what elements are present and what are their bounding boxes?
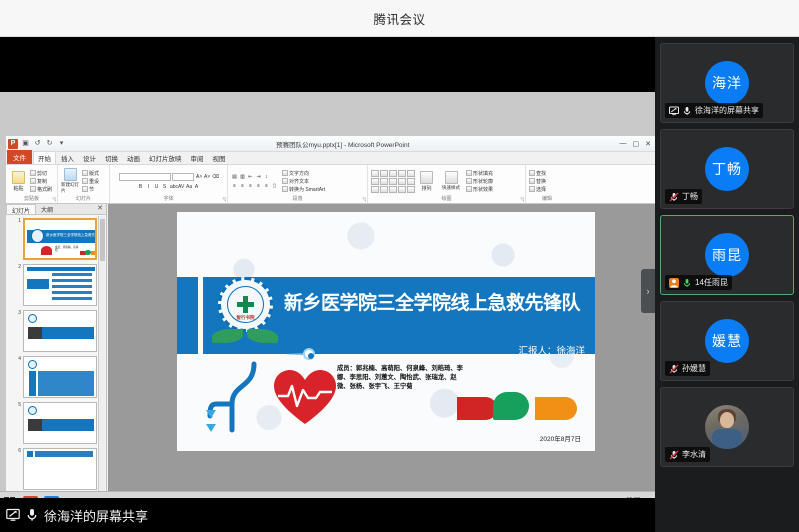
close-icon[interactable]: ✕ — [97, 204, 106, 214]
section-icon — [82, 186, 88, 192]
tab-design[interactable]: 设计 — [79, 152, 100, 164]
minimize-button[interactable]: — — [620, 140, 627, 148]
slide-presenter[interactable]: 汇报人：徐海洋 — [518, 343, 585, 357]
avatar: 丁畅 — [705, 147, 749, 191]
shape-icon[interactable] — [380, 178, 388, 185]
slide-canvas-area[interactable]: 智行书院 新乡医学院三全学院线上急救先锋队 汇报人：徐海洋 — [108, 204, 655, 498]
pill-orange — [535, 397, 577, 420]
copy-button[interactable]: 复制 — [30, 178, 52, 185]
participant-name: 丁畅 — [682, 191, 698, 202]
screen-share-icon — [6, 508, 20, 522]
shrink-font-icon[interactable]: A˅ — [203, 173, 210, 180]
participant-tile-yuanhui[interactable]: 媛慧 孙媛慧 — [660, 301, 794, 381]
drawing-dialog-launcher[interactable]: ◹ — [520, 197, 524, 203]
avatar: 雨昆 — [705, 233, 749, 277]
shape-icon[interactable] — [398, 178, 406, 185]
grow-font-icon[interactable]: A˄ — [195, 173, 202, 180]
thumbnail-slide-6[interactable] — [23, 448, 97, 490]
ribbon-home: 粘贴 剪切 复制 — [6, 165, 655, 204]
shape-icon[interactable] — [371, 186, 379, 193]
share-status-banner: 徐海洋的屏幕共享 — [0, 498, 655, 532]
window-buttons[interactable]: — ▢ ✕ — [620, 140, 656, 148]
tab-insert[interactable]: 插入 — [57, 152, 78, 164]
powerpoint-document-title: 预赛团队公myu.pptx[1] - Microsoft PowerPoint — [66, 139, 620, 149]
group-paragraph: ▤ ▥ ⇤ ⇥ ↕ ≡ ≡ ≡ ≡ — [228, 165, 368, 203]
screen-share-icon — [669, 106, 679, 116]
text-direction-icon — [282, 170, 288, 176]
select-button[interactable]: 选择 — [529, 186, 546, 193]
shape-icon[interactable] — [407, 178, 415, 185]
microphone-icon — [682, 106, 692, 116]
paragraph-dialog-launcher[interactable]: ◹ — [362, 197, 366, 203]
new-slide-icon — [64, 168, 77, 181]
shape-icon[interactable] — [371, 178, 379, 185]
participant-name: 14任雨昆 — [695, 277, 728, 288]
align-center-icon[interactable]: ≡ — [239, 182, 246, 189]
avatar — [705, 405, 749, 449]
line-spacing-icon[interactable]: ↕ — [263, 173, 270, 180]
tab-review[interactable]: 审阅 — [187, 152, 208, 164]
font-color-icon[interactable]: A — [193, 183, 200, 190]
participant-namebar: 徐海洋的屏幕共享 — [665, 103, 763, 118]
maximize-button[interactable]: ▢ — [633, 140, 640, 148]
group-clipboard: 粘贴 剪切 复制 — [6, 165, 58, 203]
medical-cross-icon — [237, 296, 254, 313]
shape-icon[interactable] — [407, 186, 415, 193]
shapes-gallery[interactable] — [371, 170, 415, 193]
clipboard-dialog-launcher[interactable]: ◹ — [52, 197, 56, 203]
tab-slideshow[interactable]: 幻灯片放映 — [145, 152, 186, 164]
replace-icon — [529, 178, 535, 184]
collapse-rail-button[interactable]: › — [641, 269, 655, 313]
replace-button[interactable]: 替换 — [529, 178, 546, 185]
participant-name: 徐海洋的屏幕共享 — [695, 105, 759, 116]
tab-home[interactable]: 开始 — [33, 151, 56, 164]
close-button[interactable]: ✕ — [645, 140, 651, 148]
copy-icon — [30, 178, 36, 184]
shape-icon[interactable] — [371, 170, 379, 177]
align-left-icon[interactable]: ≡ — [231, 182, 238, 189]
shape-icon[interactable] — [389, 178, 397, 185]
microphone-muted-icon — [669, 192, 679, 202]
convert-smartart-button[interactable]: 转换为 SmartArt — [282, 186, 325, 193]
align-text-icon — [282, 178, 288, 184]
smartart-icon — [282, 186, 288, 192]
slide-title[interactable]: 新乡医学院三全学院线上急救先锋队 — [284, 288, 584, 318]
shadow-icon[interactable]: S — [161, 183, 168, 190]
slide-members-text[interactable]: 成员：郭兆楠、高萌阳、何泉峰、刘皓琦、李娜、李思阳、刘蕙文、陶怡武、张瑞龙、赵微… — [337, 364, 465, 391]
powerpoint-titlebar: P ▣ ↺ ↻ ▾ 预赛团队公myu.pptx[1] - Microsoft P… — [6, 136, 655, 152]
participant-tile-haiyang[interactable]: 海洋 徐海洋的屏幕共享 — [660, 43, 794, 123]
select-icon — [529, 186, 535, 192]
italic-icon[interactable]: I — [145, 183, 152, 190]
thumbnail-slide-4[interactable] — [23, 356, 97, 398]
paste-button[interactable]: 粘贴 — [9, 171, 28, 192]
customize-icon[interactable]: ▾ — [57, 139, 66, 148]
participant-namebar: 李水清 — [665, 447, 710, 462]
shape-effects-button[interactable]: 形状效果 — [466, 186, 493, 193]
participant-tile-dingchang[interactable]: 丁畅 丁畅 — [660, 129, 794, 209]
thumbnail-list[interactable]: 1 新乡医学院三全学院线上急救先锋队 成员：郭兆楠、高萌阳 — [6, 215, 107, 498]
font-name-input[interactable] — [119, 173, 171, 181]
shape-icon[interactable] — [407, 170, 415, 177]
current-slide[interactable]: 智行书院 新乡医学院三全学院线上急救先锋队 汇报人：徐海洋 — [177, 212, 595, 451]
group-editing: 查找 替换 选择 — [526, 165, 568, 203]
justify-icon[interactable]: ≡ — [255, 182, 262, 189]
thumbnail-slide-1[interactable]: 新乡医学院三全学院线上急救先锋队 成员：郭兆楠、高萌阳 — [23, 218, 97, 260]
tencent-meeting-window: 腾讯会议 P ▣ ↺ ↻ ▾ 预赛团队公myu.pptx[1] - Micros… — [0, 0, 799, 532]
font-dialog-launcher[interactable]: ◹ — [222, 197, 226, 203]
microphone-muted-icon — [669, 450, 679, 460]
reset-icon — [82, 178, 88, 184]
cut-button[interactable]: 剪切 — [30, 170, 52, 177]
shape-icon[interactable] — [398, 170, 406, 177]
format-painter-button[interactable]: 格式刷 — [30, 186, 52, 193]
meeting-title: 腾讯会议 — [373, 9, 425, 28]
share-status-label: 徐海洋的屏幕共享 — [44, 506, 148, 525]
char-spacing-icon[interactable]: AV — [177, 183, 184, 190]
shape-icon[interactable] — [380, 186, 388, 193]
columns-icon[interactable]: ▯ — [271, 182, 278, 189]
shape-outline-button[interactable]: 形状轮廓 — [466, 178, 493, 185]
list-item[interactable]: 2 — [15, 264, 97, 306]
shared-screen-stage[interactable]: P ▣ ↺ ↻ ▾ 预赛团队公myu.pptx[1] - Microsoft P… — [0, 37, 655, 498]
avatar: 海洋 — [705, 61, 749, 105]
search-icon — [529, 170, 535, 176]
stethoscope-icon — [202, 358, 272, 438]
ribbon-tabs[interactable]: 文件 开始 插入 设计 切换 动画 幻灯片放映 审阅 视图 — [6, 152, 655, 165]
slide-thumbnail-panel[interactable]: 幻灯片 大纲 ✕ 1 新乡医学院三全学院线上急救先锋队 — [6, 204, 107, 498]
participant-namebar: 14任雨昆 — [665, 275, 732, 290]
tab-animations[interactable]: 动画 — [123, 152, 144, 164]
tab-slides[interactable]: 幻灯片 — [6, 204, 36, 214]
participant-tile-lishuiqing[interactable]: 李水清 — [660, 387, 794, 467]
strikethrough-icon[interactable]: abc — [169, 183, 176, 190]
school-logo: 智行书院 — [210, 275, 280, 358]
dot-decoration — [287, 348, 319, 360]
pill-red — [457, 397, 497, 420]
participant-namebar: 丁畅 — [665, 189, 702, 204]
thumbnail-slide-2[interactable] — [23, 264, 97, 306]
slide-date[interactable]: 2020年8月7日 — [540, 433, 581, 443]
panel-scrollbar[interactable] — [98, 216, 105, 498]
group-drawing: 排列 快速样式 形状填充 — [368, 165, 526, 203]
align-right-icon[interactable]: ≡ — [247, 182, 254, 189]
shared-desktop: P ▣ ↺ ↻ ▾ 预赛团队公myu.pptx[1] - Microsoft P… — [0, 92, 655, 498]
scrollbar-thumb[interactable] — [100, 219, 105, 261]
scissors-icon — [30, 170, 36, 176]
layout-icon — [82, 170, 88, 176]
list-item[interactable]: 6 — [15, 448, 97, 490]
shape-icon[interactable] — [389, 170, 397, 177]
meeting-titlebar: 腾讯会议 — [0, 0, 799, 37]
paintbrush-icon — [30, 186, 36, 192]
arrange-icon — [420, 171, 433, 184]
font-size-input[interactable] — [172, 173, 194, 181]
group-font: A˄ A˅ ⌫ B I U S abc AV Aa — [110, 165, 228, 203]
numbering-icon[interactable]: ▥ — [239, 173, 246, 180]
tab-transitions[interactable]: 切换 — [101, 152, 122, 164]
decrease-indent-icon[interactable]: ⇤ — [247, 173, 254, 180]
windows-taskbar: P M ˄ ◉ ◔ ▬ 拼 中 ↻ 15:28 2020/8/7 ▯ — [0, 491, 655, 498]
change-case-icon[interactable]: Aa — [185, 183, 192, 190]
powerpoint-window: P ▣ ↺ ↻ ▾ 预赛团队公myu.pptx[1] - Microsoft P… — [6, 136, 655, 498]
clear-format-icon[interactable]: ⌫ — [211, 173, 218, 180]
participant-name: 孙媛慧 — [682, 363, 706, 374]
new-slide-button[interactable]: 新建幻灯片 — [61, 168, 80, 194]
increase-indent-icon[interactable]: ⇥ — [255, 173, 262, 180]
shape-icon[interactable] — [389, 186, 397, 193]
logo-text: 智行书院 — [221, 315, 270, 321]
group-slides: 新建幻灯片 版式 重设 — [58, 165, 110, 203]
bold-icon[interactable]: B — [137, 183, 144, 190]
shape-fill-button[interactable]: 形状填充 — [466, 170, 493, 177]
text-direction-button[interactable]: 文字方向 — [282, 170, 325, 177]
tab-outline[interactable]: 大纲 — [36, 204, 58, 214]
layout-button[interactable]: 版式 — [82, 170, 99, 177]
redo-icon[interactable]: ↻ — [45, 139, 54, 148]
quick-styles-icon — [445, 171, 458, 184]
arrange-button[interactable]: 排列 — [417, 171, 436, 192]
align-text-button[interactable]: 对齐文本 — [282, 178, 325, 185]
powerpoint-logo-icon: P — [8, 139, 18, 149]
shape-fill-icon — [466, 170, 472, 176]
bullets-icon[interactable]: ▤ — [231, 173, 238, 180]
thumbnail-slide-5[interactable] — [23, 402, 97, 444]
participant-name: 李水清 — [682, 449, 706, 460]
participant-tile-yukun[interactable]: 雨昆 14任雨昆 — [660, 215, 794, 295]
microphone-muted-icon — [669, 364, 679, 374]
shape-effects-icon — [466, 186, 472, 192]
undo-icon[interactable]: ↺ — [33, 139, 42, 148]
list-item[interactable]: 4 — [15, 356, 97, 398]
host-badge-icon — [669, 278, 679, 288]
pill-green — [493, 392, 529, 420]
underline-icon[interactable]: U — [153, 183, 160, 190]
list-item[interactable]: 3 — [15, 310, 97, 352]
list-item[interactable]: 5 — [15, 402, 97, 444]
shape-icon[interactable] — [398, 186, 406, 193]
quick-styles-button[interactable]: 快速样式 — [438, 171, 464, 191]
quick-access-toolbar[interactable]: P ▣ ↺ ↻ ▾ — [6, 139, 66, 149]
section-button[interactable]: 节 — [82, 186, 99, 193]
participant-namebar: 孙媛慧 — [665, 361, 710, 376]
heartbeat-icon — [272, 368, 338, 428]
shape-icon[interactable] — [380, 170, 388, 177]
thumbnail-slide-3[interactable] — [23, 310, 97, 352]
find-button[interactable]: 查找 — [529, 170, 546, 177]
avatar: 媛慧 — [705, 319, 749, 363]
microphone-icon — [25, 508, 39, 522]
save-icon[interactable]: ▣ — [21, 139, 30, 148]
list-item[interactable]: 1 新乡医学院三全学院线上急救先锋队 成员：郭兆楠、高萌阳 — [15, 218, 97, 260]
participant-rail: 海洋 徐海洋的屏幕共享 丁畅 丁畅 雨昆 — [655, 37, 799, 532]
distribute-icon[interactable]: ≡ — [263, 182, 270, 189]
microphone-icon — [682, 278, 692, 288]
panel-tabs[interactable]: 幻灯片 大纲 ✕ — [6, 204, 106, 215]
reset-button[interactable]: 重设 — [82, 178, 99, 185]
logo-leaf-decoration — [212, 323, 278, 349]
tab-file[interactable]: 文件 — [7, 150, 32, 164]
paste-icon — [12, 171, 25, 184]
band-gap — [198, 277, 203, 354]
capsule-decoration — [457, 392, 577, 420]
powerpoint-workspace: 幻灯片 大纲 ✕ 1 新乡医学院三全学院线上急救先锋队 — [6, 204, 655, 498]
shape-outline-icon — [466, 178, 472, 184]
tab-view[interactable]: 视图 — [209, 152, 230, 164]
